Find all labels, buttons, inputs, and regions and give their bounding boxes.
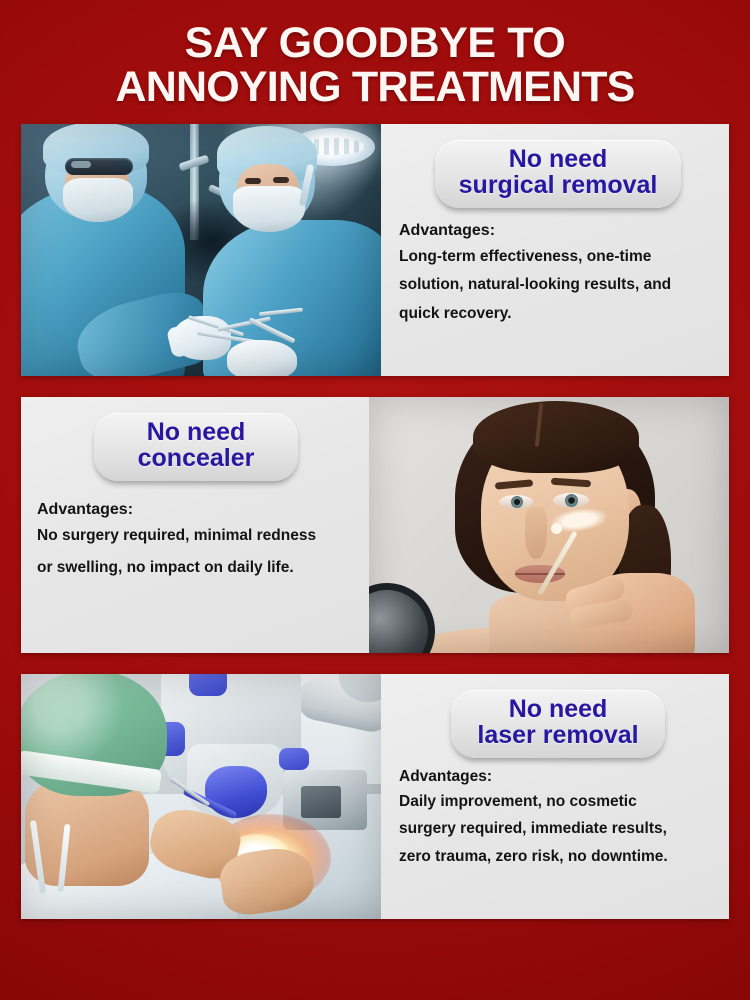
woman-nose bbox=[525, 507, 547, 559]
badge-concealer: No need concealer bbox=[94, 413, 299, 481]
advantages-text-line: No surgery required, minimal redness bbox=[37, 528, 355, 544]
advantages-text-line: or swelling, no impact on daily life. bbox=[37, 560, 355, 576]
benefit-panels: No need surgical removal Advantages: Lon… bbox=[0, 124, 750, 919]
advantages-text-line: Long-term effectiveness, one-time bbox=[399, 249, 717, 265]
woman-iris-right bbox=[565, 494, 578, 507]
microscope-knob bbox=[279, 748, 309, 770]
advantages-label: Advantages: bbox=[399, 222, 717, 240]
panel-1-text-column: No need surgical removal Advantages: Lon… bbox=[381, 124, 729, 376]
woman-lip-line bbox=[515, 573, 565, 575]
badge-line-1: No need bbox=[459, 146, 658, 173]
badge-surgical-removal: No need surgical removal bbox=[435, 140, 682, 208]
badge-line-1: No need bbox=[477, 696, 638, 723]
microscope-knob bbox=[189, 674, 227, 696]
badge-laser-removal: No need laser removal bbox=[451, 690, 664, 758]
benefit-panel-concealer: No need concealer Advantages: No surgery… bbox=[21, 397, 729, 653]
advantages-label: Advantages: bbox=[37, 501, 355, 519]
advantages-text-line: zero trauma, zero risk, no downtime. bbox=[399, 849, 717, 865]
advantages-text-line: Daily improvement, no cosmetic bbox=[399, 794, 717, 810]
headline-line-2: ANNOYING TREATMENTS bbox=[18, 66, 732, 110]
woman-applying-concealer-photo bbox=[369, 397, 729, 653]
badge-line-1: No need bbox=[138, 419, 255, 446]
woman-iris-left bbox=[511, 496, 523, 508]
badge-line-2: laser removal bbox=[477, 722, 638, 749]
badge-line-2: surgical removal bbox=[459, 172, 658, 199]
advantages-text-line: quick recovery. bbox=[399, 306, 717, 322]
concealer-applicator-tip bbox=[551, 523, 562, 534]
badge-line-2: concealer bbox=[138, 445, 255, 472]
panel-2-text-column: No need concealer Advantages: No surgery… bbox=[21, 397, 369, 653]
surgeon-right-eye-left bbox=[245, 178, 261, 184]
surgeon-left-mask bbox=[63, 178, 133, 222]
laser-microsurgery-photo bbox=[21, 674, 381, 919]
operating-room-surgeons-photo bbox=[21, 124, 381, 376]
headline-line-1: SAY GOODBYE TO bbox=[18, 22, 732, 66]
advantages-label: Advantages: bbox=[399, 768, 717, 786]
advantages-text-line: solution, natural-looking results, and bbox=[399, 277, 717, 293]
page-header: SAY GOODBYE TO ANNOYING TREATMENTS bbox=[0, 0, 750, 124]
woman-hair-top bbox=[473, 401, 639, 473]
surgeon-right-eye-right bbox=[273, 177, 289, 183]
surgeon-left-goggles-icon bbox=[65, 158, 133, 175]
equipment-module-panel bbox=[301, 786, 341, 818]
surgeon-right-mask bbox=[233, 186, 305, 232]
benefit-panel-surgical-removal: No need surgical removal Advantages: Lon… bbox=[21, 124, 729, 376]
benefit-panel-laser-removal: No need laser removal Advantages: Daily … bbox=[21, 674, 729, 919]
advantages-text-line: surgery required, immediate results, bbox=[399, 821, 717, 837]
panel-3-text-column: No need laser removal Advantages: Daily … bbox=[381, 674, 729, 919]
surgeon-glove-right bbox=[227, 340, 297, 376]
